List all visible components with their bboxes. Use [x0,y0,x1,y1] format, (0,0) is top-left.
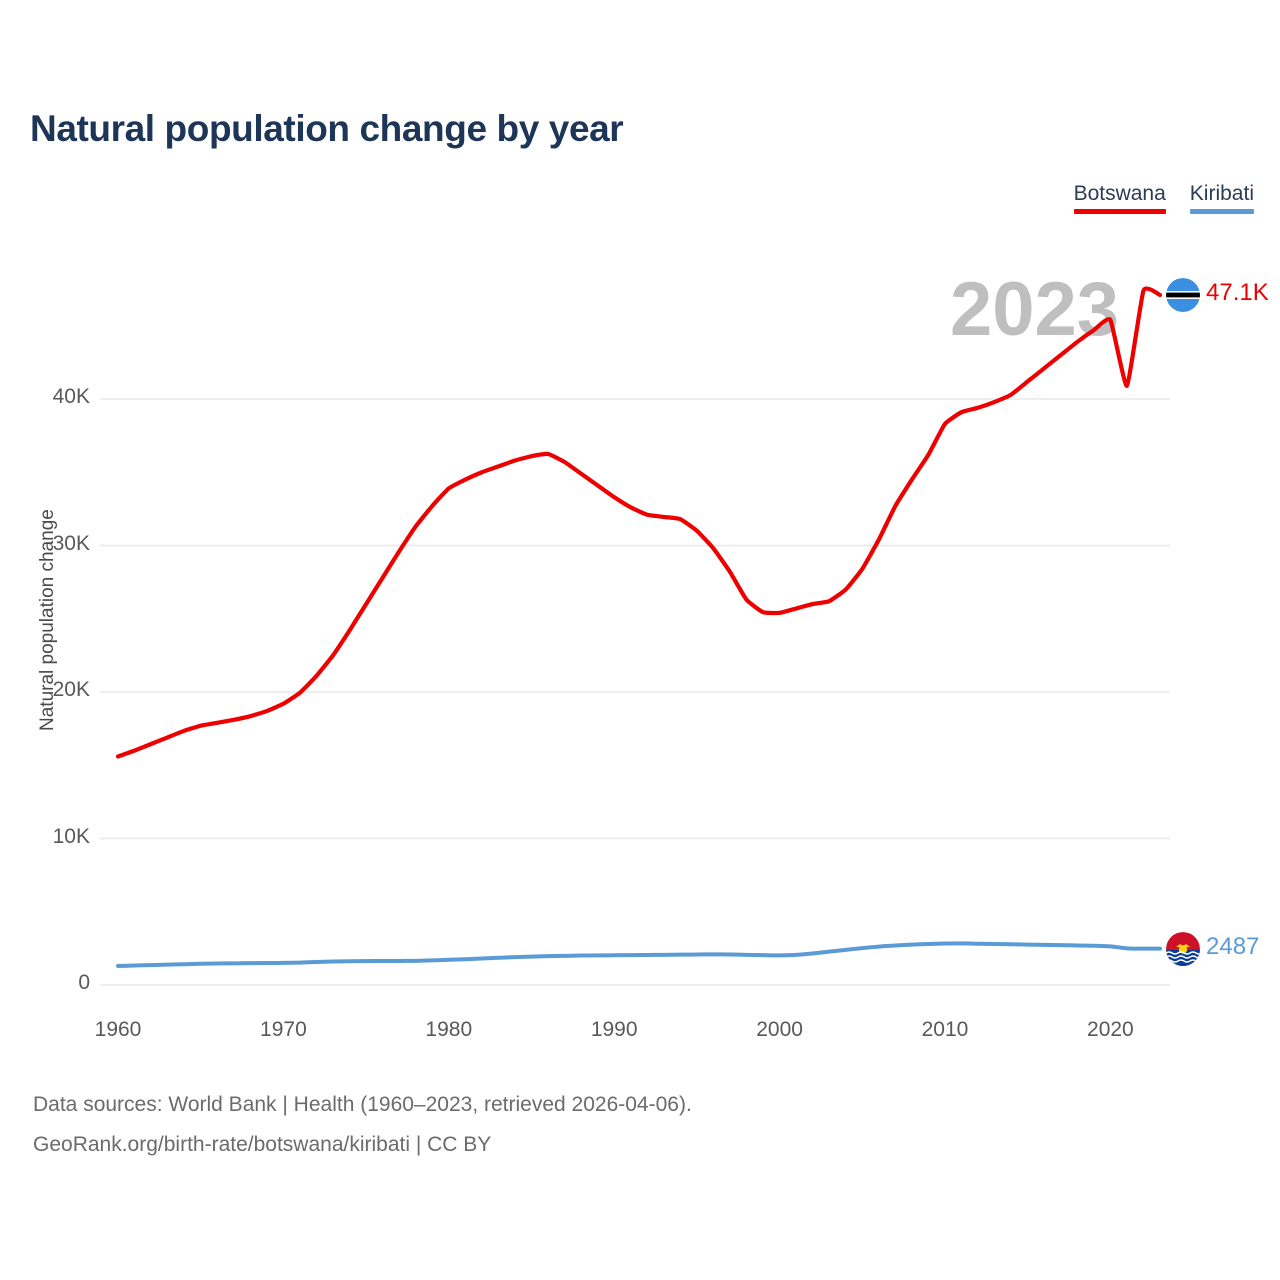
gridlines [100,399,1170,985]
x-axis-tick-label: 2000 [735,1018,825,1042]
x-axis-tick-label: 2020 [1065,1018,1155,1042]
x-axis-tick-label: 1960 [73,1018,163,1042]
footer-attribution: GeoRank.org/birth-rate/botswana/kiribati… [33,1125,692,1165]
y-axis-tick-label: 40K [0,385,90,409]
series-line-botswana [118,289,1160,757]
botswana-flag-icon [1166,278,1200,312]
y-axis-title: Natural population change [37,511,59,731]
endpoint-label-botswana: 47.1K [1206,279,1269,307]
x-axis-tick-label: 1990 [569,1018,659,1042]
endpoint-label-kiribati: 2487 [1206,933,1259,961]
footer-data-sources: Data sources: World Bank | Health (1960–… [33,1085,692,1125]
y-axis-tick-label: 0 [0,971,90,995]
series-line-kiribati [118,943,1160,966]
x-axis-tick-label: 2010 [900,1018,990,1042]
chart-page: Natural population change by year Botswa… [0,0,1280,1280]
footer: Data sources: World Bank | Health (1960–… [33,1085,692,1165]
y-axis-tick-label: 10K [0,825,90,849]
x-axis-tick-label: 1970 [238,1018,328,1042]
kiribati-flag-icon [1166,932,1200,966]
x-axis-tick-label: 1980 [404,1018,494,1042]
series-lines [118,289,1160,966]
